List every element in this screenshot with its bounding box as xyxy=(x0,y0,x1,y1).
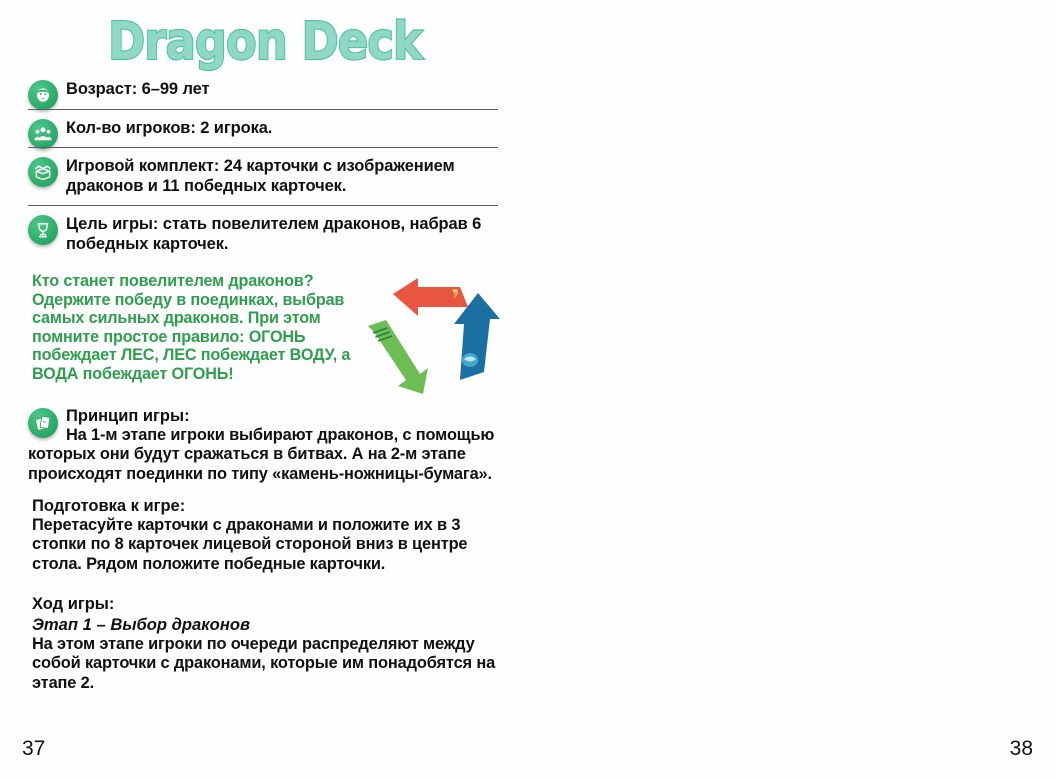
book-spread: Dragon Deck Возраст: 6–99 лет xyxy=(0,0,1057,781)
info-row-players: Кол-во игроков: 2 игрока. xyxy=(28,109,498,139)
info-list: Возраст: 6–99 лет Кол-во игроков: 2 игро… xyxy=(28,80,498,254)
gameplay-body: На этом этапе игроки по очереди распреде… xyxy=(32,635,502,693)
info-row-text: Цель игры: стать повелителем драконов, н… xyxy=(66,215,498,254)
green-callout-text: Кто станет повелителем драконов? Одержит… xyxy=(32,272,362,384)
principle-heading: Принцип игры: xyxy=(66,406,503,426)
info-row-lead: Кол-во игроков: xyxy=(66,119,196,137)
setup-body: Перетасуйте карточки с драконами и полож… xyxy=(32,516,502,574)
principle-section: Принцип игры: На 1-м этапе игроки выбира… xyxy=(28,406,503,484)
info-row-text: Игровой комплект: 24 карточки с изображе… xyxy=(66,157,498,196)
setup-heading: Подготовка к игре: xyxy=(32,496,502,516)
page-right: Во время каждого хода активный игрок ост… xyxy=(530,0,1057,781)
gameplay-heading: Ход игры: xyxy=(32,594,502,614)
cards-icon xyxy=(28,408,58,438)
info-row-text: Возраст: 6–99 лет xyxy=(66,80,498,100)
setup-section: Подготовка к игре: Перетасуйте карточки … xyxy=(32,496,502,574)
info-row-lead: Игровой комплект: xyxy=(66,157,219,175)
info-row-lead: Цель игры: xyxy=(66,215,158,233)
trophy-icon xyxy=(28,215,58,245)
gameplay-section: Ход игры: Этап 1 – Выбор драконов На это… xyxy=(32,594,502,693)
info-row-age: Возраст: 6–99 лет xyxy=(28,80,498,100)
info-row-lead: Возраст: xyxy=(66,80,137,98)
page-number-right: 38 xyxy=(1010,737,1033,761)
page-number-left: 37 xyxy=(22,737,45,761)
element-cycle-diagram xyxy=(360,276,510,394)
info-row-text: Кол-во игроков: 2 игрока. xyxy=(66,119,498,139)
info-row-goal: Цель игры: стать повелителем драконов, н… xyxy=(28,205,498,254)
open-box-icon xyxy=(28,157,58,187)
principle-body: На 1-м этапе игроки выбирают драконов, с… xyxy=(28,426,503,484)
forest-arrow xyxy=(368,320,428,394)
face-icon xyxy=(28,80,58,110)
info-row-rest: 6–99 лет xyxy=(137,80,209,98)
fire-arrow xyxy=(393,278,468,316)
page-title: Dragon Deck xyxy=(37,16,493,68)
players-group-icon xyxy=(28,119,58,149)
info-row-rest: 2 игрока. xyxy=(196,119,273,137)
gameplay-stage-heading: Этап 1 – Выбор драконов xyxy=(32,614,502,635)
page-left: Dragon Deck Возраст: 6–99 лет xyxy=(0,0,530,781)
info-row-contents: Игровой комплект: 24 карточки с изображе… xyxy=(28,147,498,196)
